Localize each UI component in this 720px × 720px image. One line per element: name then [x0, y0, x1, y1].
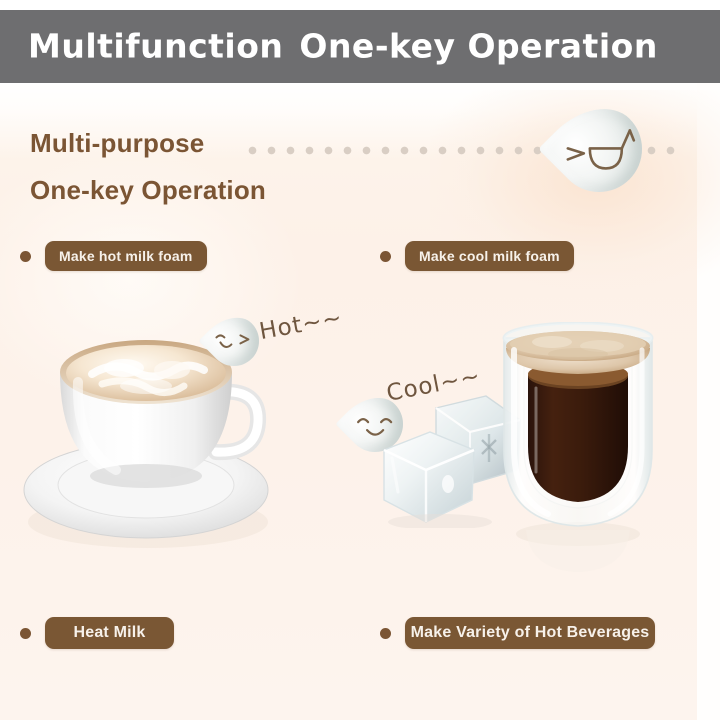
droplet-winking-face-icon [560, 122, 644, 178]
feature-label-heat-milk[interactable]: Heat Milk [45, 617, 174, 649]
bullet-dot-icon [380, 628, 391, 639]
espresso-glass-image [478, 322, 678, 582]
feature-item-heat-milk[interactable]: Heat Milk [20, 617, 174, 649]
feature-label-cool-foam[interactable]: Make cool milk foam [405, 241, 574, 271]
cappuccino-cup-image [20, 330, 290, 570]
droplet-smiling-face-icon [210, 325, 260, 359]
feature-label-hot-foam[interactable]: Make hot milk foam [45, 241, 207, 271]
product-feature-banner: MultifunctionOne-key Operation Multi-pur… [0, 0, 720, 720]
page-title-line2: One-key Operation [30, 177, 266, 203]
header-banner: MultifunctionOne-key Operation [0, 10, 720, 83]
bullet-dot-icon [20, 628, 31, 639]
bullet-dot-icon [380, 251, 391, 262]
bullet-dot-icon [20, 251, 31, 262]
feature-item-hot-beverages[interactable]: Make Variety of Hot Beverages [380, 617, 655, 649]
page-title-line1: Multi-purpose [30, 130, 204, 156]
feature-label-hot-beverages[interactable]: Make Variety of Hot Beverages [405, 617, 655, 649]
feature-item-cool-foam[interactable]: Make cool milk foam [380, 241, 574, 271]
banner-title: MultifunctionOne-key Operation [28, 26, 658, 65]
banner-title-part1: Multifunction [28, 26, 283, 65]
banner-title-part2: One-key Operation [299, 26, 657, 65]
feature-item-hot-foam[interactable]: Make hot milk foam [20, 241, 207, 271]
